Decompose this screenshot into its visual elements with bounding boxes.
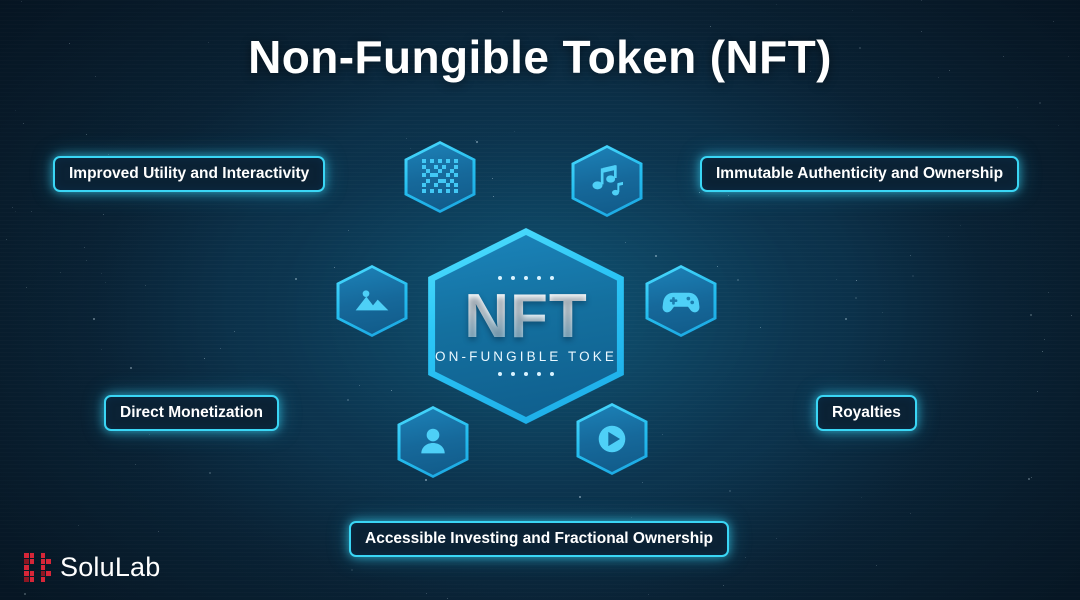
qr-code-icon (420, 157, 460, 197)
hexagon-face (575, 406, 650, 472)
benefit-label-improved-utility[interactable]: Improved Utility and Interactivity (53, 156, 325, 192)
nft-subtitle: NON-FUNGIBLE TOKEN (422, 349, 630, 364)
gamepad-icon-hexagon[interactable] (640, 265, 722, 337)
benefit-label-immutable-authenticity[interactable]: Immutable Authenticity and Ownership (700, 156, 1019, 192)
user-icon-hexagon[interactable] (392, 406, 474, 478)
hexagon-face (396, 409, 471, 475)
hexagon-face: NFT NON-FUNGIBLE TOKEN (421, 235, 631, 417)
dot-row-bottom (498, 372, 554, 376)
gamepad-icon (660, 280, 702, 322)
benefit-label-accessible-investing[interactable]: Accessible Investing and Fractional Owne… (349, 521, 729, 557)
music-note-icon (587, 161, 627, 201)
nft-logo-hexagon: NFT NON-FUNGIBLE TOKEN (413, 228, 639, 424)
hexagon-face (570, 148, 645, 214)
page-title: Non-Fungible Token (NFT) (0, 30, 1080, 84)
image-icon-hexagon[interactable] (331, 265, 413, 337)
play-video-icon-hexagon[interactable] (571, 403, 653, 475)
hexagon-face (644, 268, 719, 334)
infographic-canvas: Non-Fungible Token (NFT) NFT NON-FUNGIBL… (0, 0, 1080, 600)
nft-wordmark: NFT (464, 287, 588, 347)
hexagon-face (403, 144, 478, 210)
qr-code-icon-hexagon[interactable] (399, 141, 481, 213)
solulab-mark-icon (24, 553, 51, 583)
benefit-label-direct-monetization[interactable]: Direct Monetization (104, 395, 279, 431)
hexagon-face (335, 268, 410, 334)
play-video-icon (591, 418, 633, 460)
user-icon (414, 423, 452, 461)
brand-name: SoluLab (60, 552, 161, 583)
brand-logo[interactable]: SoluLab (24, 552, 161, 583)
music-note-icon-hexagon[interactable] (566, 145, 648, 217)
benefit-label-royalties[interactable]: Royalties (816, 395, 917, 431)
dot-row-top (498, 276, 554, 280)
image-icon (352, 281, 392, 321)
